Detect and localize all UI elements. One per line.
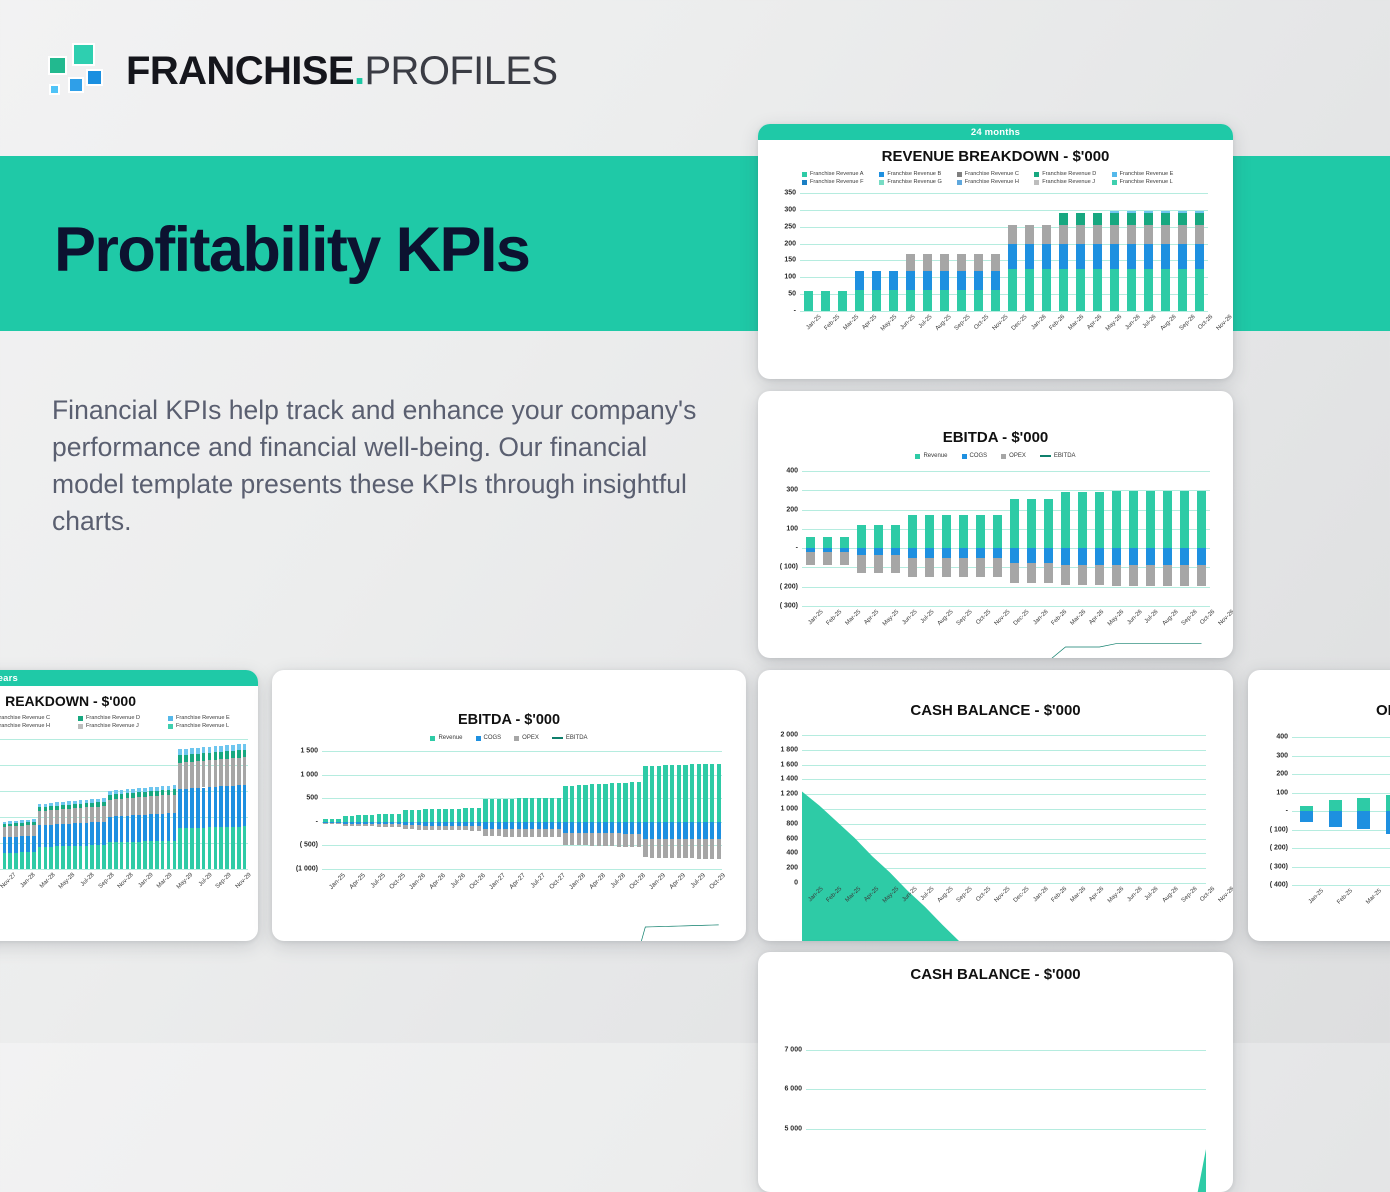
x-axis: Jan-27Mar-27May-27Jul-27Sep-27Nov-27Jan-… xyxy=(0,869,248,878)
bar-segment xyxy=(20,823,24,826)
bar-segment xyxy=(370,815,374,822)
bar-segment xyxy=(942,548,952,558)
bar-segment xyxy=(73,846,77,869)
card-ebitda-24-months[interactable]: EBITDA - $'000 RevenueCOGSOPEXEBITDA ( 3… xyxy=(758,391,1233,658)
bar-segment xyxy=(167,786,171,790)
bar-segment xyxy=(923,254,932,271)
card-revenue-breakdown-24-months[interactable]: 24 months REVENUE BREAKDOWN - $'000 Fran… xyxy=(758,124,1233,379)
bar-group xyxy=(1106,193,1123,311)
bar-segment xyxy=(38,825,42,846)
y-axis-tick: 200 xyxy=(786,865,798,872)
legend-swatch-icon xyxy=(168,724,173,729)
bar-segment xyxy=(703,764,707,822)
bar-group xyxy=(349,751,356,869)
bar-segment xyxy=(85,803,89,807)
bar-group xyxy=(656,751,663,869)
bar-group xyxy=(834,193,851,311)
x-axis-tick: Jun-26 xyxy=(1126,609,1143,626)
card-cash-balance-5-years[interactable]: CASH BALANCE - $'000 5 0006 0007 000 xyxy=(758,952,1233,1192)
x-axis-tick: Aug-26 xyxy=(1161,609,1179,627)
bar-segment xyxy=(889,271,898,291)
bar-segment xyxy=(976,548,986,558)
bar-segment xyxy=(510,829,514,837)
legend-label: OPEX xyxy=(522,735,539,741)
bar-segment xyxy=(108,800,112,817)
bar-group xyxy=(322,751,329,869)
bar-segment xyxy=(155,841,159,869)
bar-segment xyxy=(590,822,594,833)
bar-segment xyxy=(510,799,514,822)
y-axis-tick: 0 xyxy=(794,880,798,887)
legend-label: Franchise Revenue H xyxy=(0,723,50,729)
bar-segment xyxy=(603,833,607,846)
bar-segment xyxy=(1110,213,1119,225)
legend-swatch-icon xyxy=(1034,172,1039,177)
bar-segment xyxy=(417,810,421,822)
bar-segment xyxy=(650,822,654,839)
logo-text-secondary: PROFILES xyxy=(364,49,557,93)
x-axis-tick: Jul-25 xyxy=(918,314,934,330)
legend-item: Franchise Revenue A xyxy=(802,171,879,177)
bar-segment xyxy=(1178,269,1187,311)
bar-segment xyxy=(1197,491,1207,548)
legend-swatch-icon xyxy=(552,737,563,739)
bar-segment xyxy=(120,794,124,799)
bar-segment xyxy=(131,815,135,841)
bar-segment xyxy=(1095,548,1105,565)
bar-segment xyxy=(178,828,182,869)
bar-group xyxy=(1176,471,1193,606)
x-axis-tick: Nov-26 xyxy=(1218,886,1233,904)
x-axis-tick: Feb-25 xyxy=(824,314,842,332)
bar-segment xyxy=(906,271,915,291)
bar-segment xyxy=(974,290,983,311)
bar-group xyxy=(509,751,516,869)
bar-segment xyxy=(993,548,1003,558)
bar-segment xyxy=(1008,225,1017,244)
bar-segment xyxy=(20,852,24,869)
bar-segment xyxy=(857,548,867,555)
bar-segment xyxy=(214,827,218,869)
legend-item: COGS xyxy=(962,453,988,459)
area-series xyxy=(802,735,1206,941)
bar-segment xyxy=(323,823,327,824)
bar-group xyxy=(817,193,834,311)
x-axis-tick: Apr-28 xyxy=(588,872,607,891)
legend-item: Franchise Revenue D xyxy=(78,715,168,721)
x-axis-tick: Jul-25 xyxy=(368,872,387,891)
bar-segment xyxy=(143,841,147,869)
y-axis-tick: ( 500) xyxy=(300,842,318,849)
y-axis-tick: 300 xyxy=(1276,752,1288,759)
bar-segment xyxy=(976,558,986,577)
bar-group xyxy=(1159,471,1176,606)
bar-group xyxy=(355,751,362,869)
chart-legend: RevenueCOGSOPEXEBITDA xyxy=(272,735,746,741)
bar-group xyxy=(389,751,396,869)
period-badge: 24 months xyxy=(758,124,1233,140)
legend-swatch-icon xyxy=(476,736,481,741)
area-series xyxy=(806,997,1206,1192)
bar-group xyxy=(455,751,462,869)
bar-group xyxy=(696,751,703,869)
legend-swatch-icon xyxy=(430,736,435,741)
bar-segment xyxy=(208,753,212,760)
bar-segment xyxy=(190,748,194,754)
bar-segment xyxy=(1357,811,1370,829)
bar-segment xyxy=(959,515,969,548)
bar-segment xyxy=(703,839,707,859)
bar-segment xyxy=(543,798,547,822)
bar-segment xyxy=(597,784,601,822)
y-axis-tick: 400 xyxy=(786,468,798,475)
bar-segment xyxy=(430,826,434,830)
x-axis-tick: Nov-29 xyxy=(234,872,252,890)
bar-group xyxy=(970,193,987,311)
bar-segment xyxy=(490,799,494,822)
bar-segment xyxy=(149,787,153,791)
bar-segment xyxy=(49,803,53,806)
legend-swatch-icon xyxy=(957,180,962,185)
bar-group xyxy=(489,751,496,869)
bar-segment xyxy=(1144,269,1153,311)
bar-segment xyxy=(906,290,915,311)
bar-group xyxy=(1378,737,1390,885)
bar-segment xyxy=(3,853,7,869)
bar-segment xyxy=(874,555,884,573)
bar-group xyxy=(989,471,1006,606)
bar-group xyxy=(1091,471,1108,606)
bar-segment xyxy=(155,791,159,796)
chart-plot-area: -50100150200250300350Jan-25Feb-25Mar-25A… xyxy=(800,193,1208,311)
bar-segment xyxy=(108,842,112,869)
bar-segment xyxy=(73,804,77,808)
bar-segment xyxy=(173,813,177,841)
bar-group xyxy=(921,471,938,606)
bar-segment xyxy=(114,794,118,799)
bar-segment xyxy=(237,744,241,750)
legend-swatch-icon xyxy=(879,172,884,177)
chart-plot-area: (1 000)( 500)-5001 0001 500Jan-25Apr-25J… xyxy=(322,751,722,869)
bar-segment xyxy=(1146,491,1156,548)
bar-segment xyxy=(623,822,627,834)
x-axis-tick: Mar-28 xyxy=(39,872,57,890)
bar-segment xyxy=(178,763,182,789)
x-axis-tick: Sep-25 xyxy=(954,314,972,332)
bar-segment xyxy=(161,814,165,841)
bar-group xyxy=(242,739,248,869)
chart-title: EBITDA - $'000 xyxy=(272,712,746,728)
y-axis-tick: - xyxy=(796,545,798,552)
bar-segment xyxy=(503,822,507,829)
bar-segment xyxy=(1110,244,1119,269)
x-axis-tick: Feb-26 xyxy=(1050,609,1068,627)
legend-label: Franchise Revenue L xyxy=(1120,179,1173,185)
legend-swatch-icon xyxy=(1112,172,1117,177)
bar-segment xyxy=(550,822,554,829)
chart-plot-area: ( 400)( 300)( 200)( 100)-100200300400Jan… xyxy=(1292,737,1390,885)
bar-segment xyxy=(184,828,188,869)
bar-group xyxy=(972,471,989,606)
bar-segment xyxy=(85,823,89,846)
x-axis-tick: Mar-26 xyxy=(1067,314,1085,332)
bar-segment xyxy=(8,826,12,837)
bar-segment xyxy=(957,290,966,311)
bar-segment xyxy=(1197,548,1207,565)
bar-segment xyxy=(14,821,18,823)
bar-segment xyxy=(184,755,188,762)
card-ebitda-5-years[interactable]: EBITDA - $'000 RevenueCOGSOPEXEBITDA (1 … xyxy=(272,670,746,941)
bar-segment xyxy=(1076,225,1085,244)
bar-segment xyxy=(73,808,77,823)
bar-segment xyxy=(38,811,42,825)
bar-segment xyxy=(20,826,24,837)
bar-group xyxy=(887,471,904,606)
x-axis-tick: May-26 xyxy=(1107,609,1125,627)
bar-group xyxy=(902,193,919,311)
bar-segment xyxy=(1127,244,1136,269)
bar-group xyxy=(936,193,953,311)
bar-segment xyxy=(697,764,701,822)
bar-group xyxy=(522,751,529,869)
x-axis-tick: Nov-27 xyxy=(0,872,18,890)
bar-segment xyxy=(1161,213,1170,225)
x-axis-tick: Jan-25 xyxy=(328,872,347,891)
bar-segment xyxy=(219,827,223,869)
bar-segment xyxy=(1025,244,1034,269)
bar-group xyxy=(596,751,603,869)
bar-segment xyxy=(1161,269,1170,311)
bar-segment xyxy=(102,845,106,869)
bar-group xyxy=(529,751,536,869)
bar-segment xyxy=(202,747,206,753)
bar-segment xyxy=(73,823,77,845)
bar-group xyxy=(1157,193,1174,311)
bar-segment xyxy=(96,802,100,806)
bar-segment xyxy=(1146,548,1156,565)
bar-segment xyxy=(20,836,24,852)
bar-segment xyxy=(717,764,721,822)
bar-segment xyxy=(356,824,360,826)
y-axis-tick: 1 000 xyxy=(300,771,318,778)
bar-segment xyxy=(67,846,71,869)
bar-segment xyxy=(38,807,42,811)
bar-group xyxy=(868,193,885,311)
bar-group xyxy=(415,751,422,869)
bar-segment xyxy=(940,271,949,291)
bar-segment xyxy=(643,822,647,839)
bar-segment xyxy=(1178,211,1187,214)
bar-group xyxy=(362,751,369,869)
bar-segment xyxy=(79,804,83,808)
bar-segment xyxy=(677,765,681,822)
legend-swatch-icon xyxy=(168,716,173,721)
bar-group xyxy=(395,751,402,869)
bar-segment xyxy=(1093,213,1102,225)
y-axis-tick: 100 xyxy=(786,525,798,532)
chart-legend: Franchise Revenue CFranchise Revenue DFr… xyxy=(0,715,258,729)
bar-group xyxy=(836,471,853,606)
bar-segment xyxy=(1110,225,1119,244)
bar-segment xyxy=(173,785,177,789)
bar-segment xyxy=(1059,213,1068,225)
x-axis-tick: Mar-25 xyxy=(845,609,863,627)
bar-group xyxy=(369,751,376,869)
bar-group xyxy=(375,751,382,869)
bar-segment xyxy=(114,790,118,794)
bar-segment xyxy=(96,822,100,845)
x-axis-tick: Jul-27 xyxy=(528,872,547,891)
bar-segment xyxy=(523,829,527,837)
bar-group xyxy=(342,751,349,869)
x-axis: Jan-25Feb-25Mar-25Apr-25May-25Jun-25Jul-… xyxy=(802,883,1206,892)
bar-group xyxy=(1038,193,1055,311)
bar-segment xyxy=(1025,225,1034,244)
bar-segment xyxy=(208,787,212,827)
bar-segment xyxy=(243,750,247,758)
bar-segment xyxy=(44,811,48,825)
bar-segment xyxy=(161,786,165,790)
x-axis-tick: Oct-29 xyxy=(708,872,727,891)
card-cash-balance-24-months[interactable]: CASH BALANCE - $'000 02004006008001 0001… xyxy=(758,670,1233,941)
bar-group xyxy=(536,751,543,869)
bar-segment xyxy=(61,805,65,809)
bar-segment xyxy=(131,789,135,793)
bar-segment xyxy=(397,824,401,827)
y-axis-tick: ( 100) xyxy=(780,564,798,571)
bar-segment xyxy=(225,827,229,869)
bar-segment xyxy=(67,805,71,809)
x-axis-tick: May-26 xyxy=(1105,314,1123,332)
bar-segment xyxy=(114,816,118,842)
bar-segment xyxy=(137,788,141,792)
bar-segment xyxy=(184,762,188,788)
bar-segment xyxy=(243,757,247,785)
x-axis-tick: Jan-26 xyxy=(408,872,427,891)
bar-segment xyxy=(377,824,381,827)
bar-segment xyxy=(1386,795,1390,811)
bar-segment xyxy=(683,765,687,822)
bar-segment xyxy=(543,829,547,837)
bar-group xyxy=(702,751,709,869)
bar-segment xyxy=(563,833,567,845)
bar-group xyxy=(676,751,683,869)
y-axis-tick: ( 400) xyxy=(1270,882,1288,889)
bar-segment xyxy=(90,803,94,807)
bar-segment xyxy=(823,552,833,566)
bar-segment xyxy=(14,823,18,826)
bar-segment xyxy=(1095,492,1105,548)
bar-segment xyxy=(577,822,581,833)
bar-segment xyxy=(8,821,12,823)
bar-segment xyxy=(126,816,130,842)
bar-segment xyxy=(470,808,474,822)
bar-segment xyxy=(857,525,867,548)
chart-legend: RevenueCOGSOPEXEBITDA xyxy=(758,453,1233,459)
legend-item: Franchise Revenue J xyxy=(1034,179,1111,185)
legend-label: Franchise Revenue B xyxy=(887,171,941,177)
x-axis-tick: Nov-26 xyxy=(1216,314,1233,332)
card-revenue-breakdown-5-years[interactable]: 5 years REAKDOWN - $'000 Franchise Reven… xyxy=(0,670,258,941)
bar-segment xyxy=(690,822,694,839)
y-axis-tick: ( 300) xyxy=(1270,863,1288,870)
x-axis: Jan-25Feb-25Mar-25Apr-25May-25Jun-25Jul-… xyxy=(800,311,1208,320)
bar-segment xyxy=(959,548,969,558)
bar-segment xyxy=(155,814,159,841)
bar-segment xyxy=(543,822,547,829)
bar-segment xyxy=(670,839,674,858)
bar-segment xyxy=(143,792,147,797)
x-axis-tick: Jan-25 xyxy=(1300,888,1325,913)
bar-segment xyxy=(161,795,165,813)
bar-segment xyxy=(38,804,42,807)
bar-group xyxy=(335,751,342,869)
bar-segment xyxy=(196,828,200,869)
bar-segment xyxy=(891,548,901,555)
bar-segment xyxy=(363,824,367,826)
bar-segment xyxy=(79,823,83,846)
bar-segment xyxy=(463,808,467,821)
card-opex[interactable]: OPE ( 400)( 300)( 200)( 100)-10020030040… xyxy=(1248,670,1390,941)
bar-segment xyxy=(1027,563,1037,583)
bar-segment xyxy=(483,822,487,829)
bar-segment xyxy=(202,761,206,788)
x-axis-tick: May-25 xyxy=(880,314,898,332)
bar-segment xyxy=(430,809,434,822)
bar-segment xyxy=(120,799,124,816)
legend-label: Franchise Revenue L xyxy=(176,723,229,729)
legend-label: EBITDA xyxy=(566,735,588,741)
bar-segment xyxy=(1195,213,1204,225)
legend-item: Franchise Revenue H xyxy=(957,179,1034,185)
bar-segment xyxy=(650,766,654,822)
bar-group xyxy=(409,751,416,869)
x-axis-tick: Sep-28 xyxy=(97,872,115,890)
bar-segment xyxy=(891,555,901,573)
bar-segment xyxy=(457,809,461,822)
bar-group xyxy=(549,751,556,869)
bar-segment xyxy=(437,826,441,830)
bar-group xyxy=(1321,737,1350,885)
legend-label: COGS xyxy=(970,453,988,459)
x-axis-tick: Nov-28 xyxy=(117,872,135,890)
bar-segment xyxy=(976,515,986,548)
x-axis-tick: May-28 xyxy=(58,872,76,890)
bar-segment xyxy=(131,842,135,869)
bar-segment xyxy=(96,807,100,822)
bar-segment xyxy=(196,754,200,761)
bar-segment xyxy=(855,290,864,311)
x-axis-tick: May-29 xyxy=(176,872,194,890)
bar-segment xyxy=(925,515,935,548)
bar-segment xyxy=(190,754,194,761)
bar-segment xyxy=(643,766,647,822)
bar-segment xyxy=(196,761,200,788)
bar-segment xyxy=(1042,269,1051,311)
bar-segment xyxy=(85,800,89,803)
legend-item: Franchise Revenue G xyxy=(879,179,956,185)
bar-segment xyxy=(1127,269,1136,311)
bar-segment xyxy=(1161,211,1170,214)
legend-label: Franchise Revenue E xyxy=(176,715,230,721)
bar-group xyxy=(582,751,589,869)
bar-segment xyxy=(610,783,614,822)
x-axis-tick: Nov-25 xyxy=(994,609,1012,627)
bar-segment xyxy=(1127,213,1136,225)
x-axis: Jan-25Feb-25Mar-25Apr-25May-25Jun-25Jul-… xyxy=(802,606,1210,615)
legend-label: Franchise Revenue J xyxy=(86,723,139,729)
bar-segment xyxy=(208,760,212,787)
